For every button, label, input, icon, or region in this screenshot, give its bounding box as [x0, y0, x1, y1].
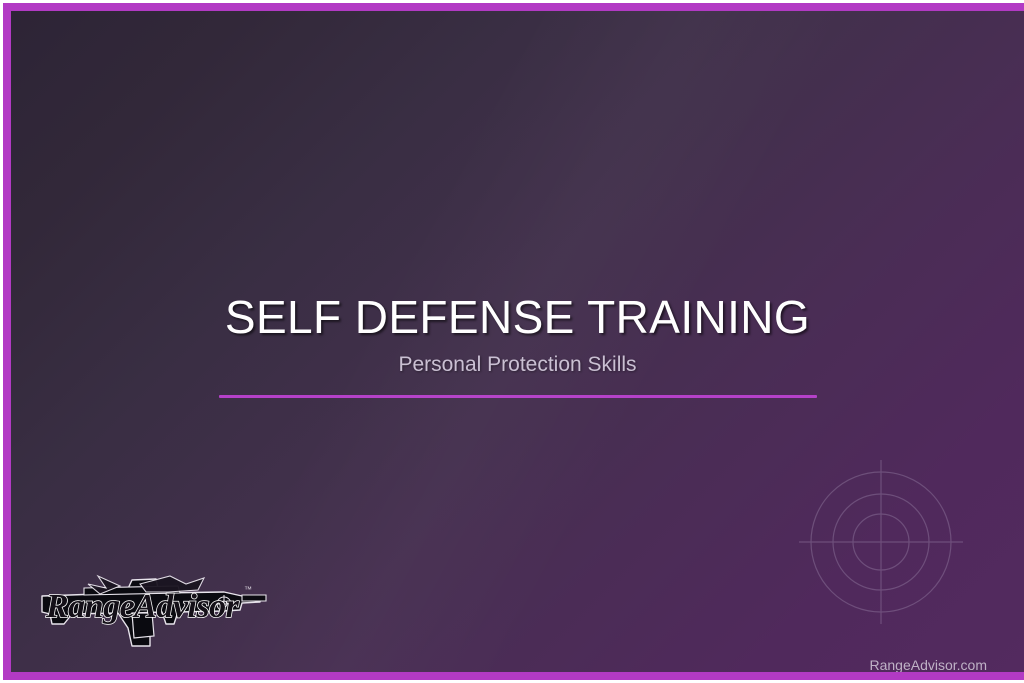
page-subtitle: Personal Protection Skills [11, 351, 1024, 379]
brand-trademark: ™ [244, 585, 252, 594]
target-crosshair-icon [788, 449, 974, 635]
slide-canvas: SELF DEFENSE TRAINING Personal Protectio… [11, 11, 1024, 672]
brand-wordmark: RangeAdvisor [45, 588, 240, 625]
page-title: SELF DEFENSE TRAINING [11, 289, 1024, 345]
footer-url: RangeAdvisor.com [869, 656, 987, 672]
brand-logo: RangeAdvisor ™ [28, 562, 268, 658]
title-block: SELF DEFENSE TRAINING Personal Protectio… [11, 289, 1024, 398]
title-divider [219, 395, 817, 398]
slide-root: SELF DEFENSE TRAINING Personal Protectio… [0, 0, 1024, 683]
